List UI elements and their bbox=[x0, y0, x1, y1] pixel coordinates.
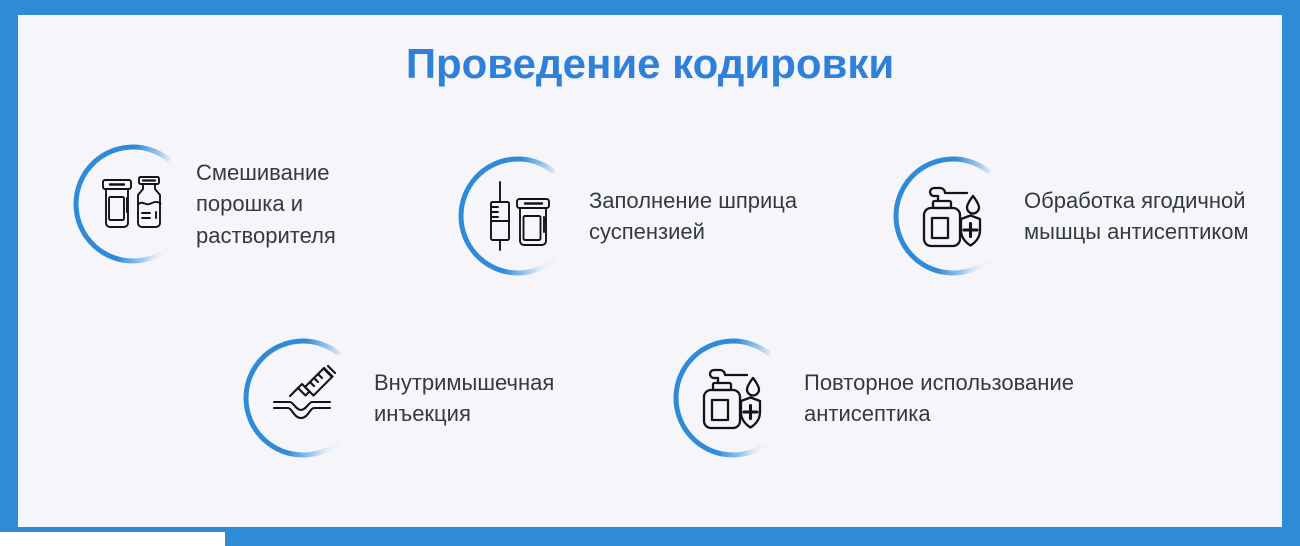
step-4-circle bbox=[238, 337, 360, 459]
step-1-label: Смешивание порошка и растворителя bbox=[196, 157, 401, 251]
syringe-and-vial-icon bbox=[481, 180, 553, 252]
step-5-label: Повторное использование антисептика bbox=[804, 367, 1134, 429]
page-title: Проведение кодировки bbox=[18, 41, 1282, 87]
antiseptic-dispenser-shield-icon bbox=[696, 362, 768, 434]
step-5-circle bbox=[668, 337, 790, 459]
step-item-5: Повторное использование антисептика bbox=[668, 337, 1134, 459]
frame-border-blue-bottom-offset bbox=[225, 524, 1300, 546]
step-2-circle bbox=[453, 155, 575, 277]
infographic-poster: Проведение кодировки bbox=[0, 0, 1300, 546]
step-2-label: Заполнение шприца суспензией bbox=[589, 185, 839, 247]
step-item-3: Обработка ягодичной мышцы антисептиком bbox=[888, 155, 1294, 277]
step-3-circle bbox=[888, 155, 1010, 277]
step-item-1: Смешивание порошка и растворителя bbox=[68, 143, 401, 265]
step-item-4: Внутримышечная инъекция bbox=[238, 337, 599, 459]
step-4-label: Внутримышечная инъекция bbox=[374, 367, 599, 429]
intramuscular-injection-icon bbox=[266, 362, 338, 434]
step-1-circle bbox=[68, 143, 190, 265]
step-3-label: Обработка ягодичной мышцы антисептиком bbox=[1024, 185, 1294, 247]
antiseptic-dispenser-shield-icon bbox=[916, 180, 988, 252]
poster-canvas: Проведение кодировки bbox=[18, 15, 1282, 527]
powder-vial-and-solvent-bottle-icon bbox=[96, 168, 168, 240]
step-item-2: Заполнение шприца суспензией bbox=[453, 155, 839, 277]
